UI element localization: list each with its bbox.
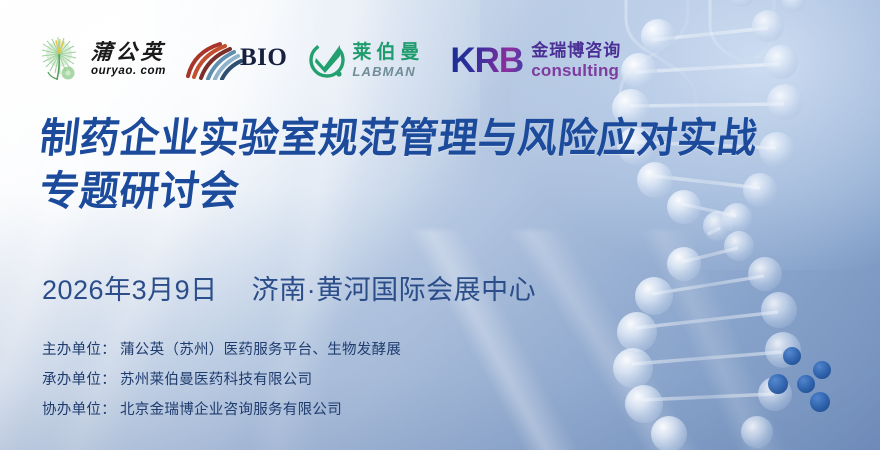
background-bottom-streaks [400,230,820,450]
krb-name-cn: 金瑞博咨询 [531,42,621,59]
logo-labman[interactable]: 莱伯曼 LABMAN [309,34,424,86]
krb-name-en: consulting [531,62,621,79]
event-title-line-1: 制药企业实验室规范管理与风险应对实战 [37,112,840,165]
labman-name-en: LABMAN [352,65,424,78]
sponsor-logo-strip: 蒲公英 ouryao. com BIO [40,34,621,86]
organizer-row-coorganizer: 协办单位：北京金瑞博企业咨询服务有限公司 [42,398,401,419]
bio-arcs-icon [184,40,244,80]
organizer-label-host: 主办单位： [42,342,116,358]
event-title-line-2: 专题研讨会 [37,165,840,218]
molecule-cluster-icon [760,340,846,416]
logo-bio[interactable]: BIO [184,34,287,86]
labman-wordmark: 莱伯曼 LABMAN [352,43,424,78]
dandelion-name-cn: 蒲公英 [90,42,166,63]
krb-wordmark-icon: KRB [450,43,523,78]
dandelion-icon [40,36,86,84]
organizer-list: 主办单位：蒲公英（苏州）医药服务平台、生物发酵展 承办单位：苏州莱伯曼医药科技有… [42,338,401,419]
dandelion-url: ouryao. com [91,66,166,78]
labman-name-cn: 莱伯曼 [352,43,424,62]
event-date: 2026年3月9日 [42,275,218,305]
event-banner: 蒲公英 ouryao. com BIO [0,0,880,450]
organizer-value-coorganizer: 北京金瑞博企业咨询服务有限公司 [120,402,342,418]
organizer-value-host: 蒲公英（苏州）医药服务平台、生物发酵展 [120,342,401,358]
logo-dandelion[interactable]: 蒲公英 ouryao. com [40,34,166,86]
event-title: 制药企业实验室规范管理与风险应对实战 专题研讨会 [40,112,870,219]
dandelion-wordmark: 蒲公英 ouryao. com [91,42,166,78]
labman-leaf-check-icon [309,42,345,78]
organizer-row-undertaker: 承办单位：苏州莱伯曼医药科技有限公司 [42,368,401,389]
logo-krb[interactable]: KRB 金瑞博咨询 consulting [450,34,621,86]
bio-wordmark: BIO [240,44,287,72]
organizer-row-host: 主办单位：蒲公英（苏州）医药服务平台、生物发酵展 [42,338,401,359]
organizer-value-undertaker: 苏州莱伯曼医药科技有限公司 [120,372,312,388]
krb-wordmark: 金瑞博咨询 consulting [531,42,621,79]
event-date-venue: 2026年3月9日 济南·黄河国际会展中心 [42,268,536,307]
event-venue: 济南·黄河国际会展中心 [252,275,537,305]
organizer-label-coorganizer: 协办单位： [42,402,116,418]
organizer-label-undertaker: 承办单位： [42,372,116,388]
